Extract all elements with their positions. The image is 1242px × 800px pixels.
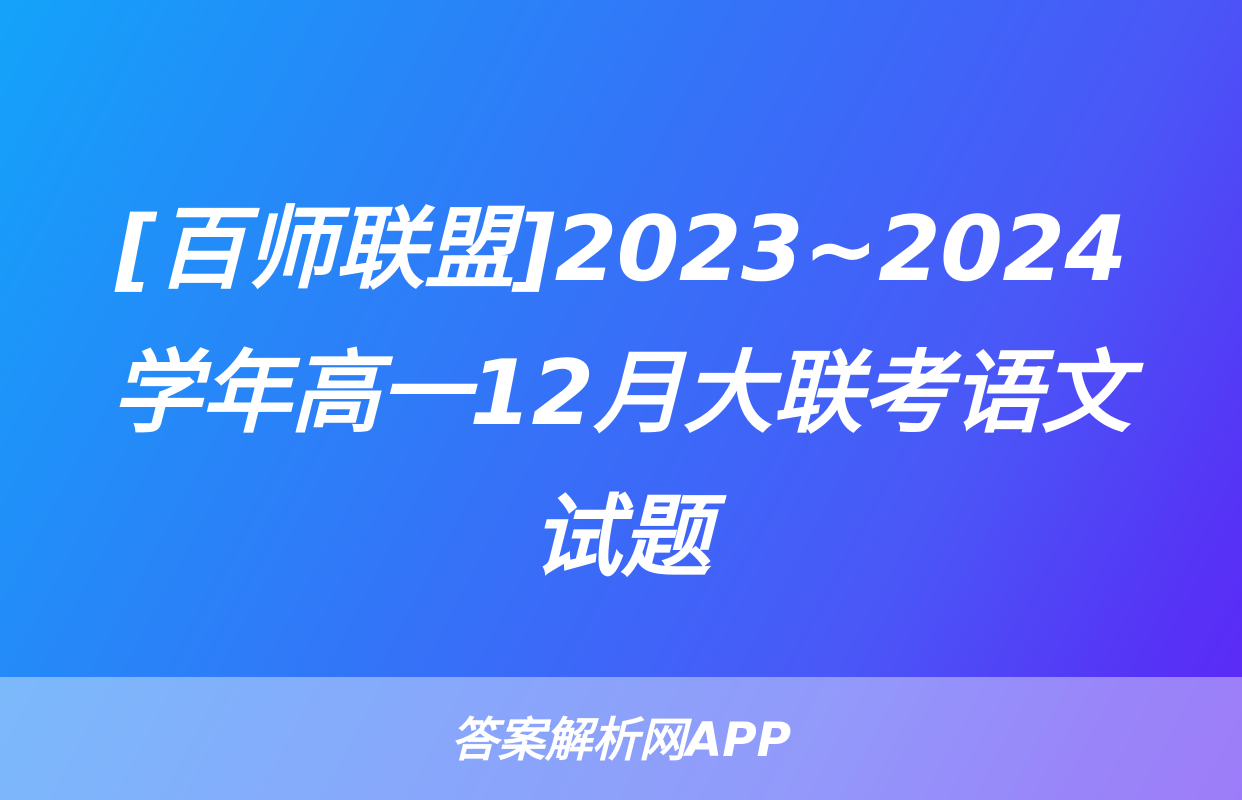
cover-page: [百师联盟]2023~2024学年高一12月大联考语文试题 答案解析网APP [0, 0, 1242, 800]
app-watermark-label: 答案解析网APP [451, 717, 791, 764]
watermark-band: 答案解析网APP [0, 677, 1242, 800]
